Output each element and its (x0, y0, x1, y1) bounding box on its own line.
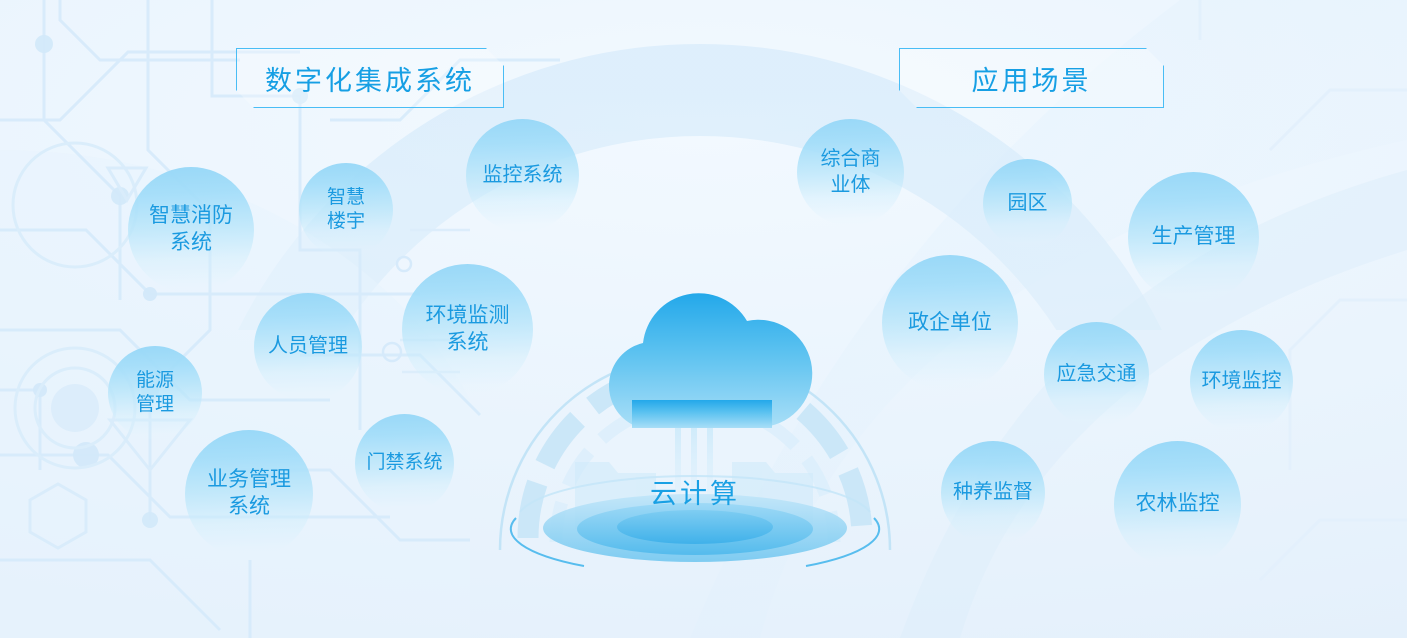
bubble-smart-fire[interactable]: 智慧消防 系统 (128, 167, 254, 293)
bubble-label: 智慧消防 系统 (145, 203, 237, 257)
bubble-agri-forest-monitor[interactable]: 农林监控 (1114, 441, 1241, 568)
bubble-label: 门禁系统 (362, 451, 446, 475)
bubble-label: 政企单位 (904, 310, 996, 337)
bubble-staff-management[interactable]: 人员管理 (254, 293, 362, 401)
bubble-label: 人员管理 (264, 334, 352, 360)
bubble-industrial-park[interactable]: 园区 (983, 159, 1072, 248)
bubble-label: 农林监控 (1132, 491, 1224, 518)
banner-application-scenarios[interactable]: 应用场景 (899, 48, 1164, 108)
bubble-label: 环境监控 (1198, 369, 1286, 395)
bubble-production-mgmt[interactable]: 生产管理 (1128, 172, 1259, 303)
cloud-caption: 云计算 (460, 472, 930, 511)
bubble-emergency-traffic[interactable]: 应急交通 (1044, 322, 1149, 427)
banner-label: 应用场景 (972, 59, 1092, 98)
bubble-label: 生产管理 (1148, 224, 1240, 251)
banner-digital-integration[interactable]: 数字化集成系统 (236, 48, 504, 108)
cloud-center-group: 云计算 (460, 250, 930, 590)
bubble-label: 环境监测 系统 (422, 303, 514, 357)
bubble-label: 综合商 业体 (817, 147, 885, 198)
bubble-label: 种养监督 (949, 480, 1037, 506)
bubble-label: 应急交通 (1053, 362, 1141, 388)
cloud-icon (609, 293, 812, 428)
cloud-graphic (460, 250, 930, 590)
bubble-smart-building[interactable]: 智慧 楼宇 (299, 163, 393, 257)
bubble-label: 能源 管理 (132, 369, 178, 418)
bubble-env-monitoring[interactable]: 环境监测 系统 (402, 264, 533, 395)
diagram-canvas: 数字化集成系统 应用场景 (0, 0, 1407, 638)
bubble-energy-management[interactable]: 能源 管理 (108, 346, 202, 440)
bubble-label: 监控系统 (479, 163, 567, 189)
bubble-monitoring-system[interactable]: 监控系统 (466, 119, 579, 232)
bubble-gov-enterprise[interactable]: 政企单位 (882, 255, 1018, 391)
banner-label: 数字化集成系统 (265, 59, 475, 98)
bubble-access-control[interactable]: 门禁系统 (355, 414, 454, 513)
bubble-business-system[interactable]: 业务管理 系统 (185, 430, 313, 558)
bubble-label: 园区 (1004, 191, 1052, 217)
bubble-label: 业务管理 系统 (203, 467, 295, 521)
bubble-env-monitor-scene[interactable]: 环境监控 (1190, 330, 1293, 433)
bubble-label: 智慧 楼宇 (323, 186, 369, 235)
bubble-farming-supervise[interactable]: 种养监督 (941, 441, 1045, 545)
bubble-commercial-complex[interactable]: 综合商 业体 (797, 119, 904, 226)
